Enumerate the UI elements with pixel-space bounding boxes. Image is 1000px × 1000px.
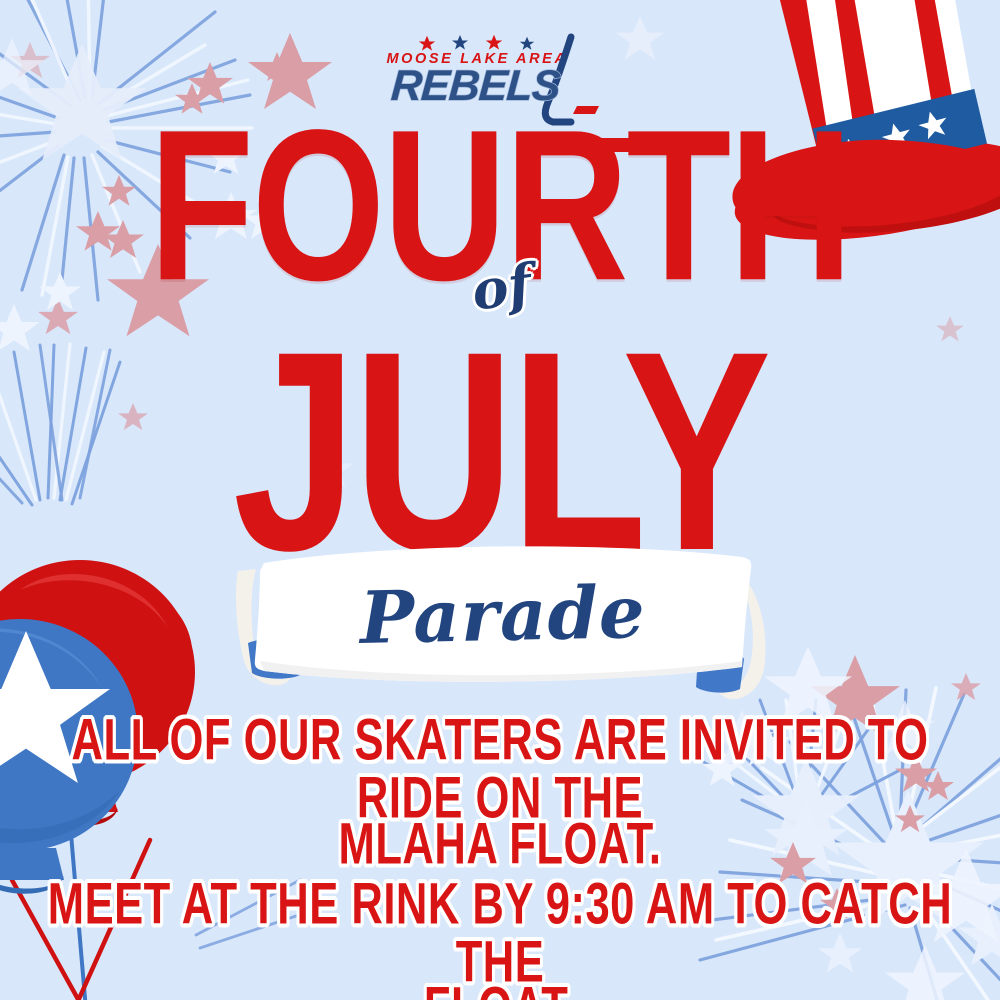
detail-line: ALL OF OUR SKATERS ARE INVITED TO RIDE O… [45, 712, 956, 828]
detail-line: MEET AT THE RINK BY 9:30 AM TO CATCH THE [45, 876, 956, 992]
title-connector-of: of [468, 251, 536, 323]
banner-label: Parade [229, 529, 777, 670]
detail-line: MLAHA FLOAT. [45, 816, 956, 874]
logo-stars [419, 35, 534, 51]
event-details: ALL OF OUR SKATERS ARE INVITED TO RIDE O… [40, 712, 960, 1000]
detail-line: FLOAT. [45, 980, 956, 1000]
parade-banner: Parade [230, 535, 775, 710]
poster-canvas: MOOSE LAKE AREA REBELS FOURTH JULY of [0, 0, 1000, 1000]
